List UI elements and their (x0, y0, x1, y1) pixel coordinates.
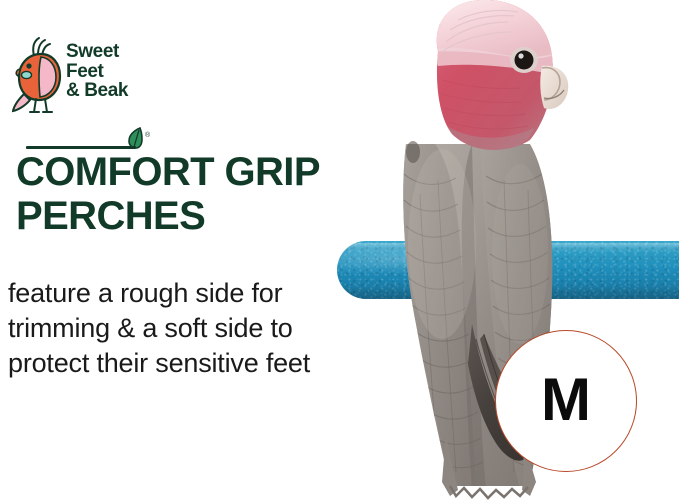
product-marketing-image: Sweet Feet & Beak ® COMFORT GRIP PERCHES… (0, 0, 679, 504)
brand-wordmark: Sweet Feet & Beak (66, 42, 166, 101)
brand-logo: Sweet Feet & Beak ® (8, 34, 168, 124)
cockatiel-bird-icon (12, 36, 70, 118)
headline-line-2: PERCHES (16, 194, 416, 238)
subcopy-line-3: protect their sensitive feet (8, 346, 398, 381)
brand-name-line-1: Sweet (66, 42, 166, 62)
size-badge-letter: M (541, 370, 591, 430)
brand-name-line-2: Feet (66, 62, 166, 82)
headline-line-1: COMFORT GRIP (16, 150, 416, 194)
brand-name-line-3: & Beak (66, 81, 166, 101)
logo-branch-line (26, 146, 136, 149)
page-title: COMFORT GRIP PERCHES (16, 150, 416, 238)
subcopy-line-2: trimming & a soft side to (8, 311, 398, 346)
size-badge: M (495, 330, 637, 472)
registered-trademark-symbol: ® (145, 132, 150, 139)
